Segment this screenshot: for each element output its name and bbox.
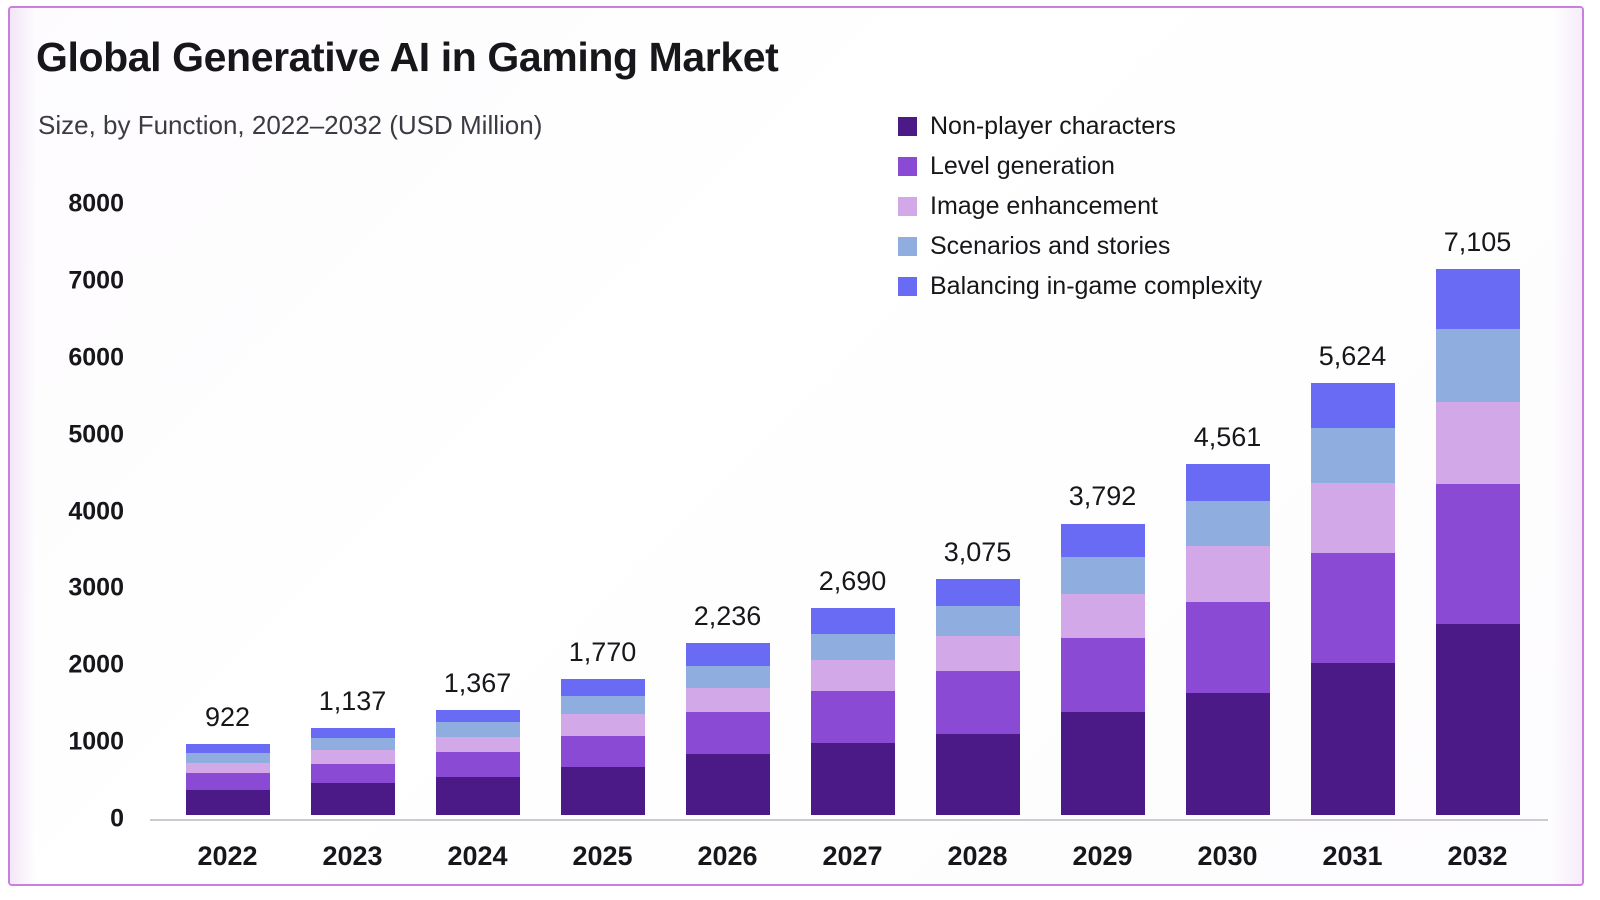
bar-stack[interactable] [1311,383,1395,815]
bar-group[interactable] [686,6,770,884]
bar-segment[interactable] [811,634,895,660]
bar-segment[interactable] [1311,553,1395,663]
bar-segment[interactable] [1436,624,1520,815]
bar-total-label: 1,367 [444,668,512,699]
bar-stack[interactable] [436,710,520,815]
bar-stack[interactable] [1186,464,1270,815]
bar-segment[interactable] [311,738,395,750]
bar-segment[interactable] [686,666,770,688]
bar-segment[interactable] [936,579,1020,607]
bar-total-label: 1,137 [319,686,387,717]
x-axis-tick-label: 2025 [572,841,632,872]
bar-segment[interactable] [1186,546,1270,601]
bar-segment[interactable] [811,608,895,634]
bar-segment[interactable] [1436,269,1520,329]
bar-total-label: 7,105 [1444,227,1512,258]
bar-group[interactable] [311,6,395,884]
bar-segment[interactable] [436,737,520,753]
bar-segment[interactable] [936,636,1020,671]
x-axis-tick-label: 2024 [447,841,507,872]
bar-group[interactable] [561,6,645,884]
bar-group[interactable] [936,6,1020,884]
bar-segment[interactable] [186,753,270,763]
bar-segment[interactable] [436,710,520,722]
bar-segment[interactable] [936,671,1020,734]
x-axis-tick-label: 2026 [697,841,757,872]
bar-segment[interactable] [811,743,895,815]
bar-stack[interactable] [811,608,895,815]
y-axis-tick-label: 1000 [28,728,124,757]
bar-total-label: 3,075 [944,537,1012,568]
bar-group[interactable] [811,6,895,884]
bar-segment[interactable] [686,712,770,754]
x-axis-tick-label: 2022 [197,841,257,872]
y-axis-tick-label: 7000 [28,266,124,295]
bar-segment[interactable] [1311,663,1395,815]
y-axis-tick-label: 2000 [28,651,124,680]
bar-segment[interactable] [1186,693,1270,815]
bar-segment[interactable] [186,773,270,790]
bar-segment[interactable] [1186,602,1270,693]
bar-segment[interactable] [1436,484,1520,624]
bar-segment[interactable] [311,783,395,815]
x-axis-tick-label: 2029 [1072,841,1132,872]
bar-total-label: 922 [205,702,250,733]
bar-stack[interactable] [936,579,1020,815]
x-axis-tick-label: 2023 [322,841,382,872]
bar-stack[interactable] [686,643,770,815]
bar-total-label: 2,690 [819,566,887,597]
bar-segment[interactable] [561,714,645,736]
y-axis-tick-label: 8000 [28,190,124,219]
y-axis-tick-label: 4000 [28,497,124,526]
bar-group[interactable] [1436,6,1520,884]
x-axis-tick-label: 2028 [947,841,1007,872]
bar-segment[interactable] [1311,383,1395,428]
bar-segment[interactable] [186,763,270,773]
bar-segment[interactable] [1186,464,1270,501]
bar-segment[interactable] [311,750,395,763]
bar-group[interactable] [1061,6,1145,884]
bar-group[interactable] [436,6,520,884]
bar-segment[interactable] [436,777,520,815]
y-axis-tick-label: 6000 [28,343,124,372]
bar-segment[interactable] [1436,329,1520,402]
bar-segment[interactable] [561,679,645,696]
x-axis-tick-label: 2031 [1322,841,1382,872]
bar-stack[interactable] [561,679,645,815]
bar-segment[interactable] [936,734,1020,815]
bar-segment[interactable] [811,660,895,691]
y-axis-tick-label: 5000 [28,420,124,449]
bar-segment[interactable] [811,691,895,743]
bar-segment[interactable] [1311,483,1395,553]
bar-segment[interactable] [686,754,770,815]
bar-stack[interactable] [1061,524,1145,815]
bar-segment[interactable] [1436,402,1520,484]
x-axis-tick-label: 2032 [1447,841,1507,872]
bar-segment[interactable] [311,728,395,739]
bar-segment[interactable] [686,688,770,713]
bar-stack[interactable] [1436,269,1520,815]
chart-card: Global Generative AI in Gaming Market Si… [8,6,1584,886]
bar-group[interactable] [1311,6,1395,884]
bar-stack[interactable] [186,744,270,815]
bar-segment[interactable] [1061,557,1145,594]
bar-segment[interactable] [186,790,270,815]
bar-stack[interactable] [311,728,395,815]
bar-segment[interactable] [1061,712,1145,815]
bar-segment[interactable] [1061,594,1145,638]
y-axis-tick-label: 3000 [28,574,124,603]
bar-total-label: 5,624 [1319,341,1387,372]
y-axis-tick-label: 0 [28,805,124,834]
bar-segment[interactable] [186,744,270,753]
bar-segment[interactable] [1311,428,1395,483]
bar-total-label: 4,561 [1194,422,1262,453]
bar-segment[interactable] [1061,638,1145,711]
x-axis-tick-label: 2030 [1197,841,1257,872]
bar-total-label: 1,770 [569,637,637,668]
bar-segment[interactable] [561,767,645,815]
bar-segment[interactable] [1186,501,1270,546]
bar-segment[interactable] [561,736,645,767]
bar-segment[interactable] [436,752,520,777]
bar-total-label: 3,792 [1069,481,1137,512]
plot-area: 8000700060005000400030002000100009222022… [10,8,1582,884]
bar-segment[interactable] [686,643,770,665]
bar-segment[interactable] [436,722,520,736]
bar-segment[interactable] [561,696,645,714]
bar-segment[interactable] [1061,524,1145,558]
x-axis-tick-label: 2027 [822,841,882,872]
bar-segment[interactable] [311,764,395,784]
bar-total-label: 2,236 [694,601,762,632]
bar-segment[interactable] [936,606,1020,636]
bar-group[interactable] [186,6,270,884]
